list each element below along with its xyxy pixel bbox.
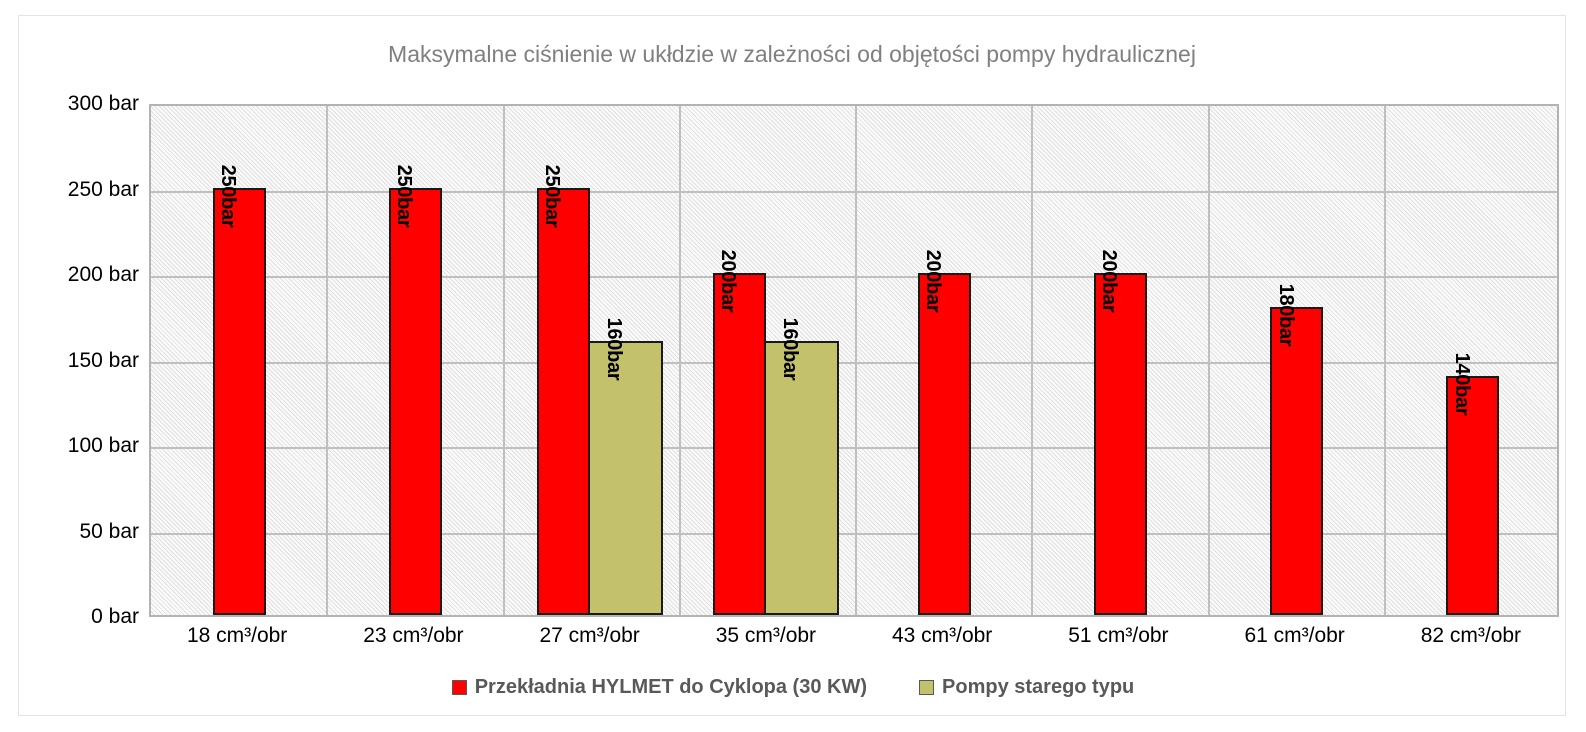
x-axis-tick-label: 51 cm³/obr	[1030, 624, 1206, 664]
x-axis: 18 cm³/obr23 cm³/obr27 cm³/obr35 cm³/obr…	[149, 624, 1559, 664]
x-axis-tick-label: 43 cm³/obr	[854, 624, 1030, 664]
bar-group: 140bar	[1385, 106, 1561, 615]
legend-swatch-icon	[919, 680, 934, 695]
bar-hylmet[interactable]: 250bar	[537, 188, 590, 616]
bar-hylmet[interactable]: 250bar	[389, 188, 442, 616]
bar-value-label: 160bar	[778, 318, 801, 381]
bar-value-label: 160bar	[602, 318, 625, 381]
bar-hylmet[interactable]: 200bar	[918, 273, 971, 615]
chart-legend: Przekładnia HYLMET do Cyklopa (30 KW)Pom…	[19, 676, 1567, 699]
legend-item-0[interactable]: Przekładnia HYLMET do Cyklopa (30 KW)	[452, 676, 867, 699]
plot-area: 250bar250bar250bar160bar200bar160bar200b…	[149, 104, 1559, 617]
bar-hylmet[interactable]: 200bar	[1094, 273, 1147, 615]
bar-value-label: 180bar	[1274, 284, 1297, 347]
bar-hylmet[interactable]: 140bar	[1446, 376, 1499, 615]
bar-value-label: 200bar	[1097, 250, 1120, 313]
bar-group: 200bar	[856, 106, 1032, 615]
legend-label: Przekładnia HYLMET do Cyklopa (30 KW)	[475, 676, 867, 699]
bar-value-label: 250bar	[540, 164, 563, 227]
bar-value-label: 200bar	[716, 250, 739, 313]
bar-value-label: 200bar	[921, 250, 944, 313]
y-axis-tick-label: 50 bar	[29, 520, 139, 544]
y-axis-tick-label: 100 bar	[29, 434, 139, 458]
x-axis-tick-label: 61 cm³/obr	[1207, 624, 1383, 664]
bar-hylmet[interactable]: 200bar	[713, 273, 766, 615]
y-axis-tick-label: 200 bar	[29, 263, 139, 287]
x-axis-tick-label: 82 cm³/obr	[1383, 624, 1559, 664]
bar-pompy-starego-typu[interactable]: 160bar	[764, 341, 839, 615]
x-axis-tick-label: 35 cm³/obr	[678, 624, 854, 664]
bar-value-label: 140bar	[1450, 352, 1473, 415]
x-axis-tick-label: 27 cm³/obr	[502, 624, 678, 664]
legend-item-1[interactable]: Pompy starego typu	[919, 676, 1134, 699]
y-axis-tick-label: 0 bar	[29, 605, 139, 629]
y-axis-tick-label: 150 bar	[29, 349, 139, 373]
y-axis-tick-label: 300 bar	[29, 92, 139, 116]
bar-group: 250bar160bar	[504, 106, 680, 615]
chart-container: Maksymalne ciśnienie w ukłdzie w zależno…	[18, 15, 1566, 716]
bar-pompy-starego-typu[interactable]: 160bar	[588, 341, 663, 615]
bar-group: 250bar	[151, 106, 327, 615]
bar-value-label: 250bar	[392, 164, 415, 227]
x-axis-tick-label: 18 cm³/obr	[149, 624, 325, 664]
legend-label: Pompy starego typu	[942, 676, 1134, 699]
bar-group: 180bar	[1209, 106, 1385, 615]
y-axis-tick-label: 250 bar	[29, 178, 139, 202]
chart-title: Maksymalne ciśnienie w ukłdzie w zależno…	[19, 41, 1565, 68]
y-axis: 0 bar50 bar100 bar150 bar200 bar250 bar3…	[27, 104, 139, 617]
bar-value-label: 250bar	[216, 164, 239, 227]
bar-group: 250bar	[327, 106, 503, 615]
bar-group: 200bar	[1032, 106, 1208, 615]
x-axis-tick-label: 23 cm³/obr	[325, 624, 501, 664]
legend-swatch-icon	[452, 680, 467, 695]
bar-group: 200bar160bar	[680, 106, 856, 615]
bar-hylmet[interactable]: 180bar	[1270, 307, 1323, 615]
bar-hylmet[interactable]: 250bar	[213, 188, 266, 616]
